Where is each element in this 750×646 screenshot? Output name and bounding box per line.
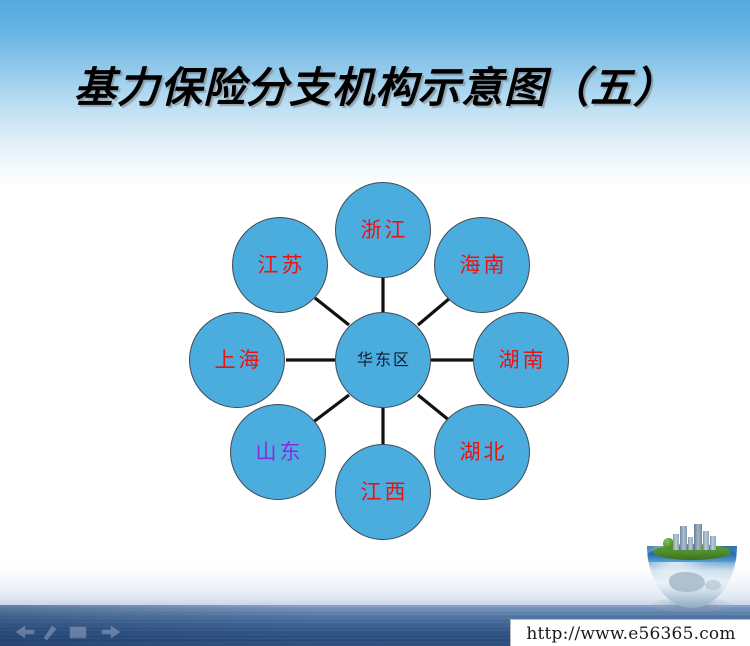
diagram-node-hunan[interactable]: 湖南 [473, 312, 569, 408]
previous-arrow-icon [16, 626, 34, 638]
next-arrow-icon [102, 626, 120, 638]
pen-icon [44, 626, 56, 640]
diagram-node-hainan-label: 海南 [457, 254, 508, 276]
globe-continent-small [705, 580, 721, 590]
slide-canvas: 基力保险分支机构示意图（五） 华东区 浙江 海南 [0, 0, 750, 646]
presentation-controls[interactable] [12, 622, 124, 642]
diagram-node-jiangsu[interactable]: 江苏 [232, 217, 328, 313]
diagram-node-shanghai-label: 上海 [212, 349, 263, 371]
org-diagram: 华东区 浙江 海南 湖南 湖北 江西 山东 上海 [0, 0, 750, 646]
diagram-node-shanghai[interactable]: 上海 [189, 312, 285, 408]
connector-hub-to-bottom-right [418, 395, 450, 421]
diagram-node-shandong[interactable]: 山东 [230, 404, 326, 500]
diagram-node-hubei-label: 湖北 [457, 441, 508, 463]
diagram-node-zhejiang-label: 浙江 [358, 219, 409, 241]
diagram-node-jiangsu-label: 江苏 [255, 254, 306, 276]
city-skyline-icon [673, 524, 717, 550]
diagram-node-jiangxi[interactable]: 江西 [335, 444, 431, 540]
diagram-node-hunan-label: 湖南 [496, 349, 547, 371]
diagram-node-shandong-label: 山东 [253, 441, 304, 463]
menu-box-icon [70, 627, 86, 638]
website-url-text: http://www.e56365.com [526, 624, 735, 644]
connector-hub-to-bottom-left [312, 395, 349, 423]
diagram-node-jiangxi-label: 江西 [358, 481, 409, 503]
diagram-node-zhejiang[interactable]: 浙江 [335, 182, 431, 278]
diagram-node-hubei[interactable]: 湖北 [434, 404, 530, 500]
diagram-node-hub[interactable]: 华东区 [335, 312, 431, 408]
earth-city-globe-icon [645, 524, 739, 616]
diagram-node-hainan[interactable]: 海南 [434, 217, 530, 313]
connector-hub-to-top-right [418, 298, 450, 325]
globe-continent [669, 572, 705, 592]
connector-hub-to-top-left [315, 298, 349, 325]
website-url-badge[interactable]: http://www.e56365.com [510, 619, 750, 646]
diagram-node-hub-label: 华东区 [355, 349, 411, 371]
